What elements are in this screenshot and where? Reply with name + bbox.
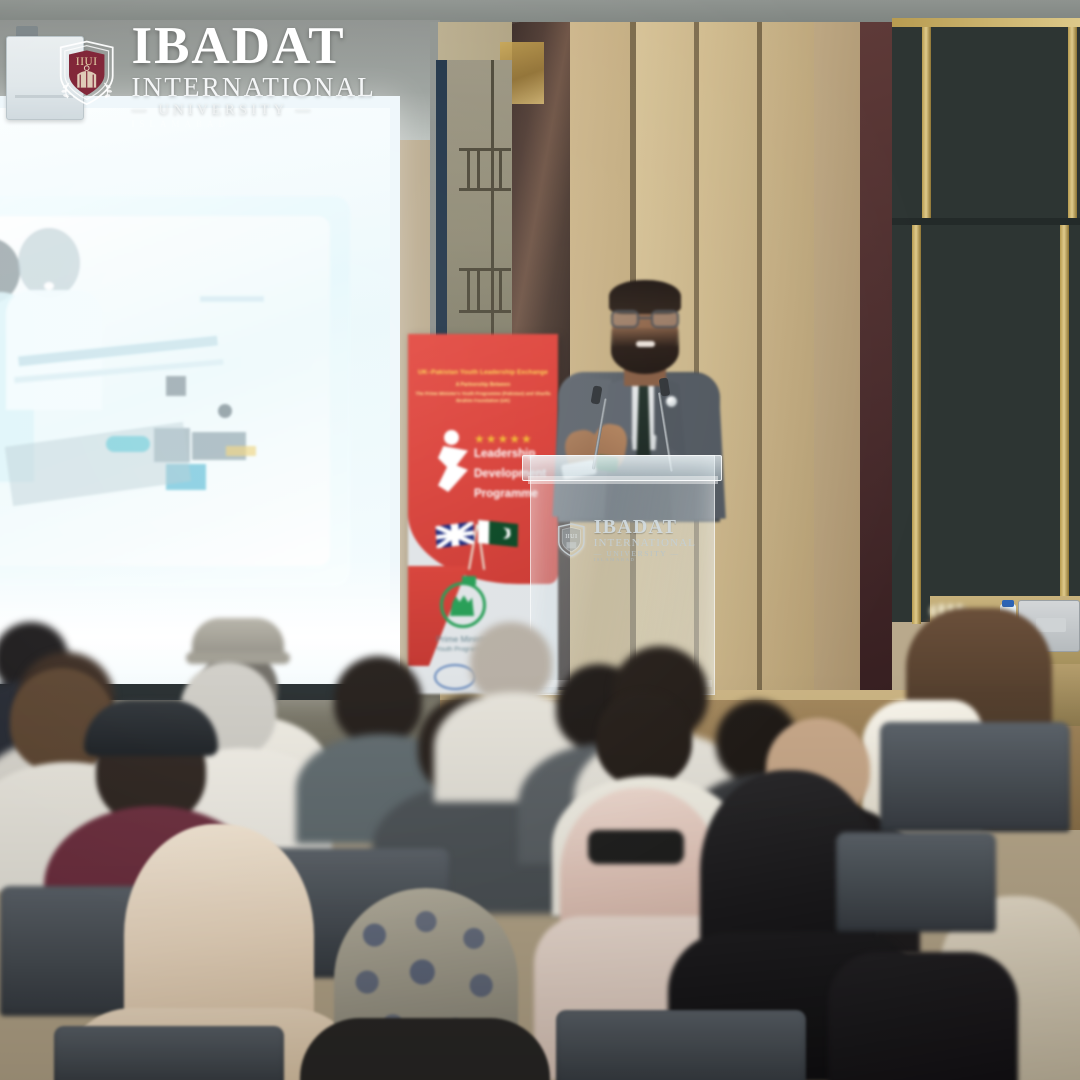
wall-slat [814, 22, 860, 722]
logo-line-international: INTERNATIONAL [131, 74, 376, 101]
bottle-cap [1002, 600, 1014, 607]
slide-image [0, 196, 350, 586]
laptop-badge [1036, 618, 1066, 632]
auditorium-chair[interactable] [880, 722, 1070, 832]
eyeglasses-icon [611, 310, 639, 328]
lectern-university-logo: IIUI IBADAT INTERNATIONAL — UNIVERSITY —… [556, 512, 696, 568]
banner-partners: The Prime Minister's Youth Programme (Pa… [414, 390, 552, 405]
banner-program-line3: Programme [474, 488, 538, 500]
logo-line-ibadat: IBADAT [131, 20, 376, 73]
auditorium-chair[interactable] [836, 832, 996, 932]
eyeglasses-icon [651, 310, 679, 328]
wall-slat [762, 22, 814, 722]
panel-trim [912, 224, 921, 624]
event-photo: UK–Pakistan Youth Leadership Exchange A … [0, 0, 1080, 1080]
speaker-mouth [636, 341, 655, 347]
uk-flag-icon [436, 522, 475, 549]
university-crest-icon: IIUI [56, 15, 117, 133]
lectern-lip [528, 476, 718, 484]
window [436, 60, 512, 360]
speaker-beard [611, 328, 679, 374]
auditorium-chair[interactable] [54, 1026, 284, 1080]
university-logo-overlay: IIUI IBADAT INTERNATIONAL — UNIVERSITY —… [56, 14, 376, 134]
five-stars-icon: ★★★★★ [474, 432, 533, 446]
panel-seam [892, 218, 1080, 225]
banner-headline: UK–Pakistan Youth Leadership Exchange [416, 368, 550, 377]
panel-trim [1068, 24, 1077, 224]
crossed-flags: ★ [430, 520, 530, 572]
lectern-logo-line4: ISLAMABAD [594, 558, 696, 563]
pakistan-flag-icon: ★ [478, 520, 518, 547]
leadership-figure-icon [438, 430, 470, 492]
pmyp-logo-icon [440, 582, 486, 628]
logo-line-islamabad: ISLAMABAD [131, 120, 376, 129]
university-crest-icon: IIUI [556, 515, 587, 565]
panel-trim-top [892, 18, 1080, 27]
svg-text:IIUI: IIUI [565, 533, 577, 540]
logo-line-university: — UNIVERSITY — [131, 103, 376, 118]
panel-trim [922, 24, 931, 224]
lectern-logo-line1: IBADAT [594, 517, 696, 538]
wall-accent-strip [860, 22, 892, 722]
auditorium-chair[interactable] [556, 1010, 806, 1080]
banner-subhead: A Partnership Between [416, 382, 550, 388]
lapel-pin-icon [666, 396, 677, 407]
svg-text:IIUI: IIUI [76, 56, 98, 68]
eyeglasses-bridge [639, 317, 651, 319]
speaker-hair [609, 280, 681, 314]
panel-trim [1060, 224, 1069, 624]
